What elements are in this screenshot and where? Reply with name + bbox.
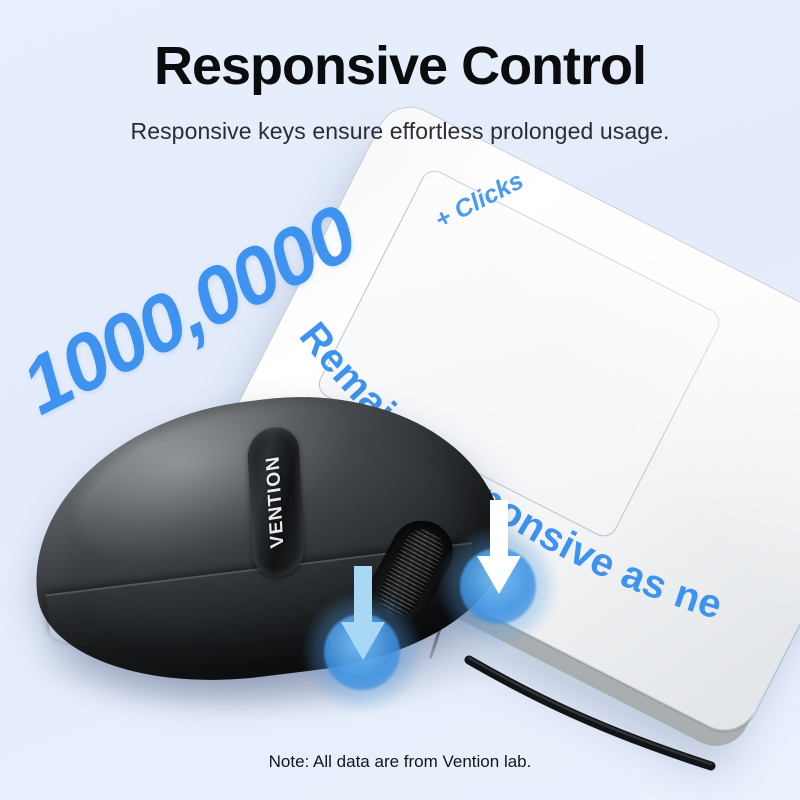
brand-logo-strip: VENTION xyxy=(246,424,305,581)
page-subtitle: Responsive keys ensure effortless prolon… xyxy=(0,118,800,145)
left-click-arrow-icon xyxy=(340,566,386,662)
page-title: Responsive Control xyxy=(0,38,800,95)
footnote: Note: All data are from Vention lab. xyxy=(0,752,800,772)
brand-logo-text: VENTION xyxy=(263,454,290,549)
mouse-illustration: VENTION xyxy=(10,392,540,722)
right-click-arrow-icon xyxy=(476,500,522,596)
marketing-slide: 1000,0000 + Clicks Remains responsive as… xyxy=(0,0,800,800)
